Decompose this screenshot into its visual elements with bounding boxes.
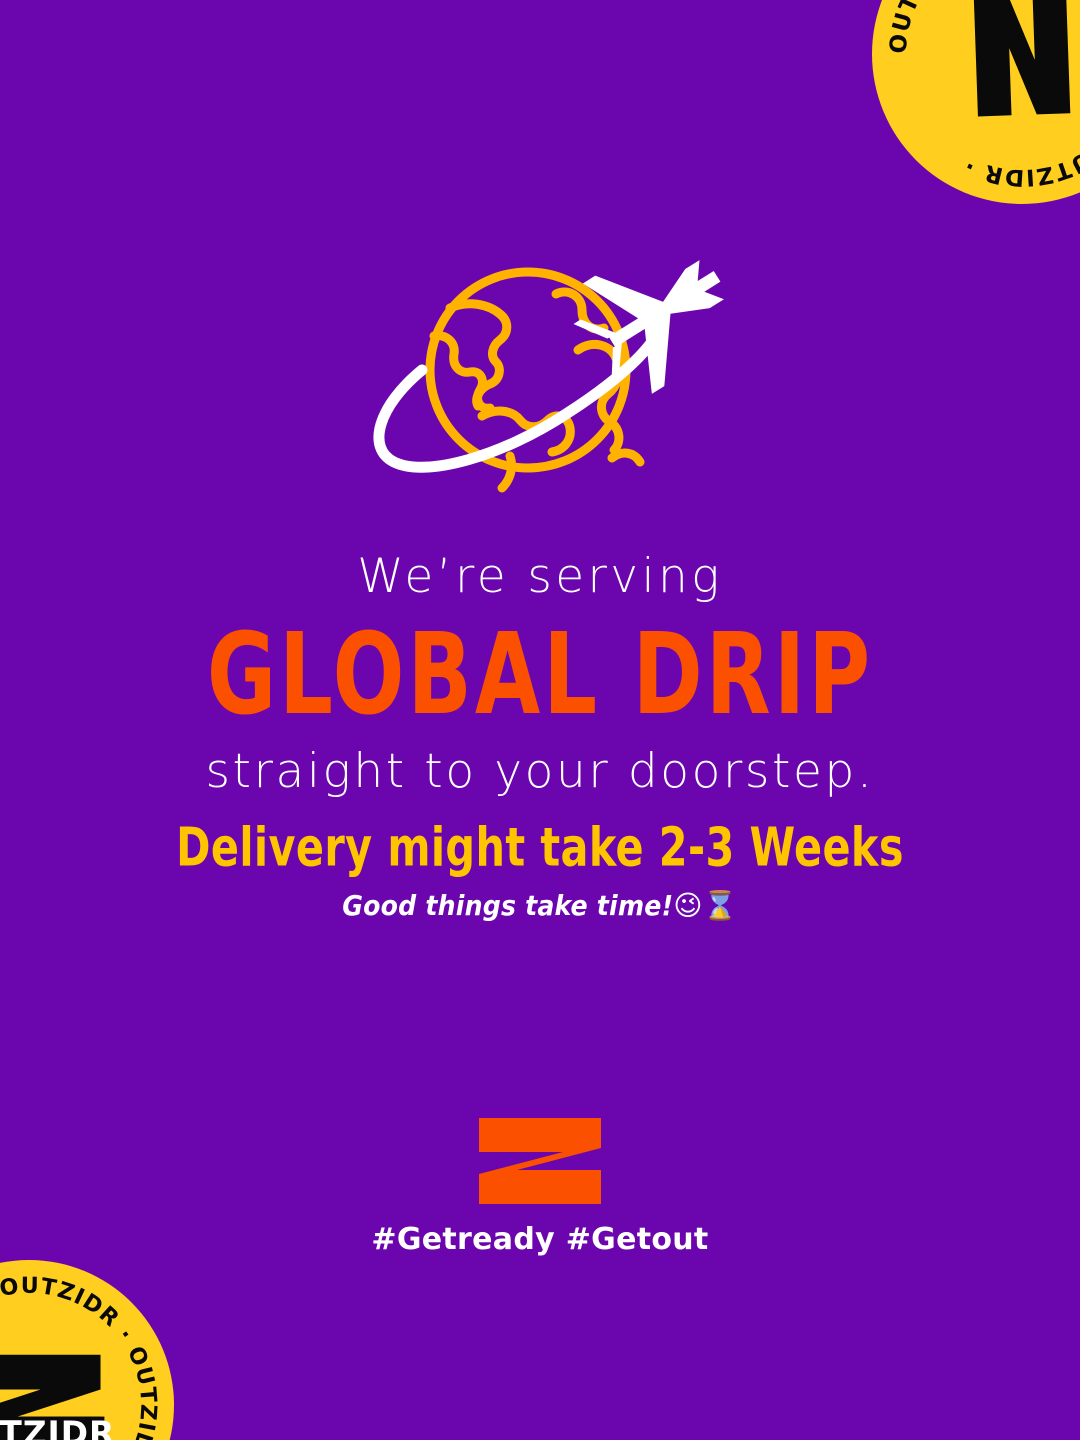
footer-block: #Getready #Getout [0, 1118, 1080, 1257]
hashtags-text: #Getready #Getout [0, 1222, 1080, 1257]
delivery-time-notice: Delivery might take 2-3 Weeks [0, 818, 1080, 877]
subline-text: straight to your doorstep. [0, 747, 1080, 796]
brand-stamp-bottom-left: OUTZIDR · OUTZIDR · OUTZIDR · OUTZIDR · … [0, 1260, 174, 1440]
stamp-wordmark: OUTZIDR [0, 1414, 115, 1440]
delivery-notice-block: Delivery might take 2-3 Weeks Good thing… [0, 818, 1080, 921]
eyebrow-text: We’re serving [0, 552, 1080, 601]
main-copy-block: We’re serving GLOBAL DRIP straight to yo… [0, 552, 1080, 797]
delivery-reassurance-text: Good things take time! [342, 889, 673, 922]
outzidr-z-logo [479, 1118, 601, 1204]
globe-airplane-illustration [360, 270, 720, 510]
brand-stamp-top-right: OUTZIDR · OUTZIDR · OUTZIDR · OUTZIDR · [872, 0, 1080, 204]
delivery-reassurance: Good things take time!😉⌛ [0, 891, 1080, 922]
wink-hourglass-emoji: 😉⌛ [673, 889, 737, 922]
promo-poster: OUTZIDR · OUTZIDR · OUTZIDR · OUTZIDR · … [0, 0, 1080, 1440]
page-title: GLOBAL DRIP [0, 619, 1080, 731]
